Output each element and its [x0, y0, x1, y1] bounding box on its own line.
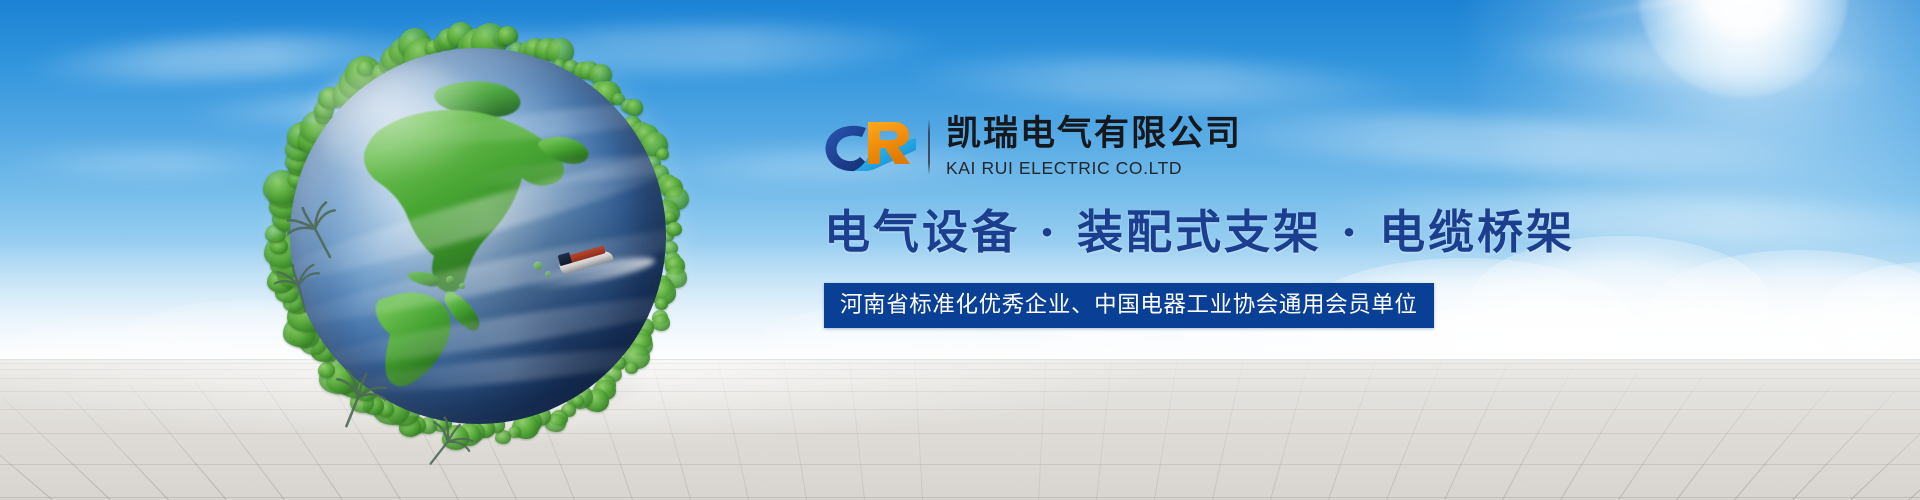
paving-line-v — [1096, 360, 1113, 500]
cloud-wisp — [899, 51, 1420, 113]
tree-icon — [666, 222, 681, 236]
earth-globe-graphic — [268, 26, 688, 446]
headline-tagline: 电气设备 · 装配式支架 · 电缆桥架 — [824, 206, 1584, 259]
paving-line-v — [1038, 360, 1047, 500]
cloud-wisp — [0, 150, 300, 176]
paving-line-v — [65, 391, 169, 500]
paving-line-v — [129, 385, 227, 500]
paving-line-v — [1850, 396, 1920, 500]
company-name-block: 凯瑞电气有限公司 KAI RUI ELECTRIC CO.LTD — [946, 115, 1242, 178]
paving-line-v — [1444, 364, 1508, 500]
paving-line-v — [782, 360, 807, 500]
paving-line-h — [0, 497, 1920, 498]
paving-line-v — [1, 396, 110, 500]
banner-content: 凯瑞电气有限公司 KAI RUI ELECTRIC CO.LTD 电气设备 · … — [824, 110, 1584, 328]
paving-line-v — [848, 360, 865, 500]
paving-line-h — [0, 464, 1920, 465]
company-name-cn: 凯瑞电气有限公司 — [946, 115, 1242, 154]
paving-line-v — [1792, 391, 1896, 500]
paving-line-v — [1270, 360, 1311, 500]
globe-ocean — [290, 48, 666, 424]
paving-line-v — [0, 402, 53, 500]
brand-lockup: 凯瑞电气有限公司 KAI RUI ELECTRIC CO.LTD — [824, 110, 1584, 184]
cr-monogram-logo-icon — [824, 116, 920, 178]
paving-line-v — [1676, 380, 1767, 500]
company-name-en: KAI RUI ELECTRIC CO.LTD — [946, 158, 1242, 179]
paving-line-v — [1386, 360, 1442, 500]
paving-line-v — [914, 360, 923, 500]
paving-line-v — [1212, 360, 1245, 500]
paving-line-v — [716, 360, 749, 500]
paving-line-v — [1908, 402, 1920, 500]
logo-divider — [928, 119, 930, 175]
paving-line-v — [1154, 360, 1179, 500]
hero-banner: 凯瑞电气有限公司 KAI RUI ELECTRIC CO.LTD 电气设备 · … — [0, 0, 1920, 500]
credential-badge: 河南省标准化优秀企业、中国电器工业协会通用会员单位 — [824, 283, 1434, 329]
paving-line-v — [1328, 360, 1377, 500]
